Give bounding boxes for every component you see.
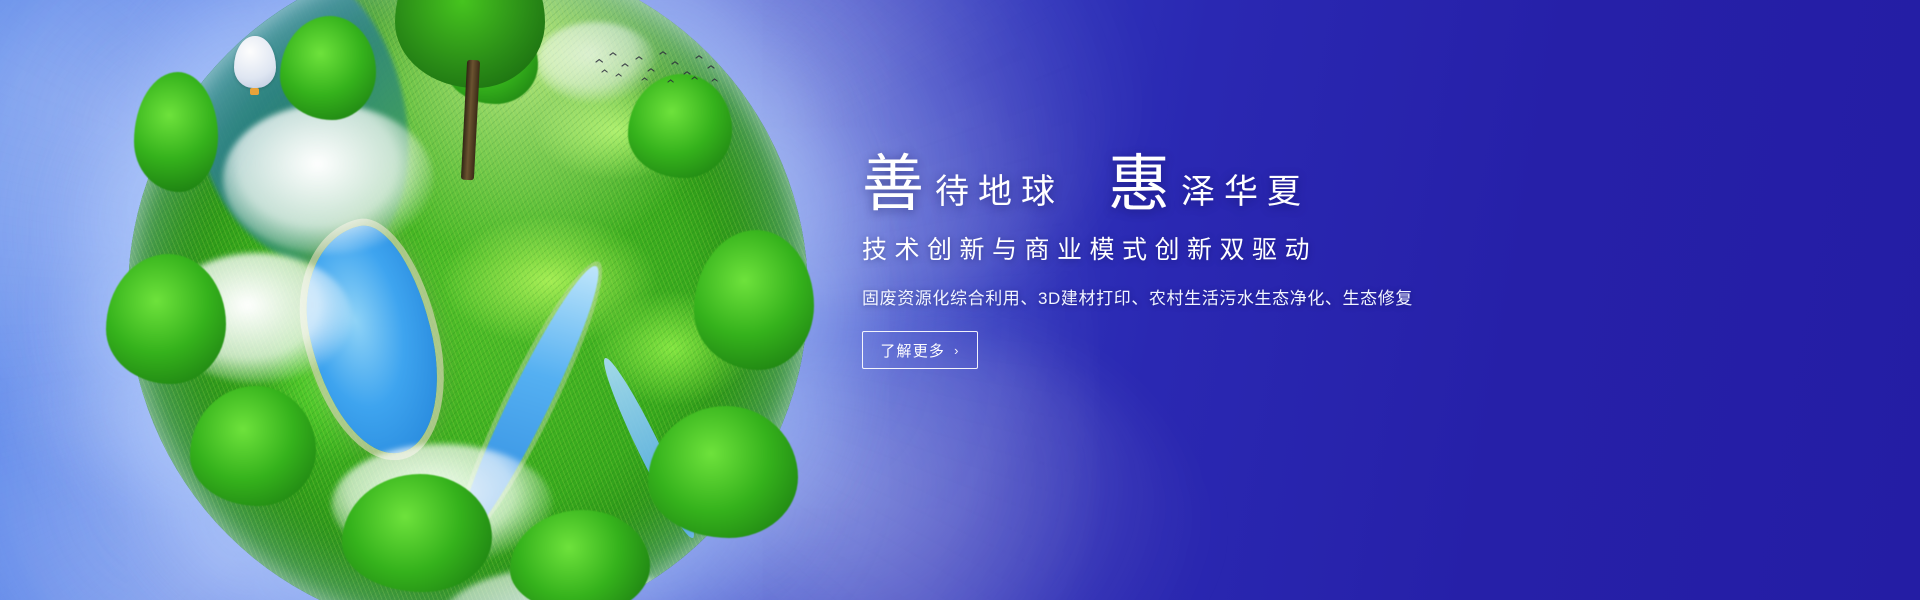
hero-content: 善 待地球 惠 泽华夏 技术创新与商业模式创新双驱动 固废资源化综合利用、3D建… <box>862 132 1562 369</box>
headline-secondary-1: 待地球 <box>925 176 1064 216</box>
bird-flock-icon <box>592 46 722 88</box>
chevron-right-icon: › <box>954 343 960 358</box>
headline-primary-1: 善 <box>862 155 925 216</box>
learn-more-label: 了解更多 <box>880 340 945 361</box>
learn-more-button[interactable]: 了解更多 › <box>862 331 978 369</box>
hero-banner: 善 待地球 惠 泽华夏 技术创新与商业模式创新双驱动 固废资源化综合利用、3D建… <box>0 0 1920 600</box>
tree-icon <box>106 254 226 384</box>
headline-primary-2: 惠 <box>1108 155 1171 216</box>
headline: 善 待地球 惠 泽华夏 <box>862 132 1562 216</box>
headline-secondary-2: 泽华夏 <box>1171 176 1310 216</box>
description-text: 固废资源化综合利用、3D建材打印、农村生活污水生态净化、生态修复 <box>862 284 1562 309</box>
subtitle: 技术创新与商业模式创新双驱动 <box>862 230 1562 266</box>
